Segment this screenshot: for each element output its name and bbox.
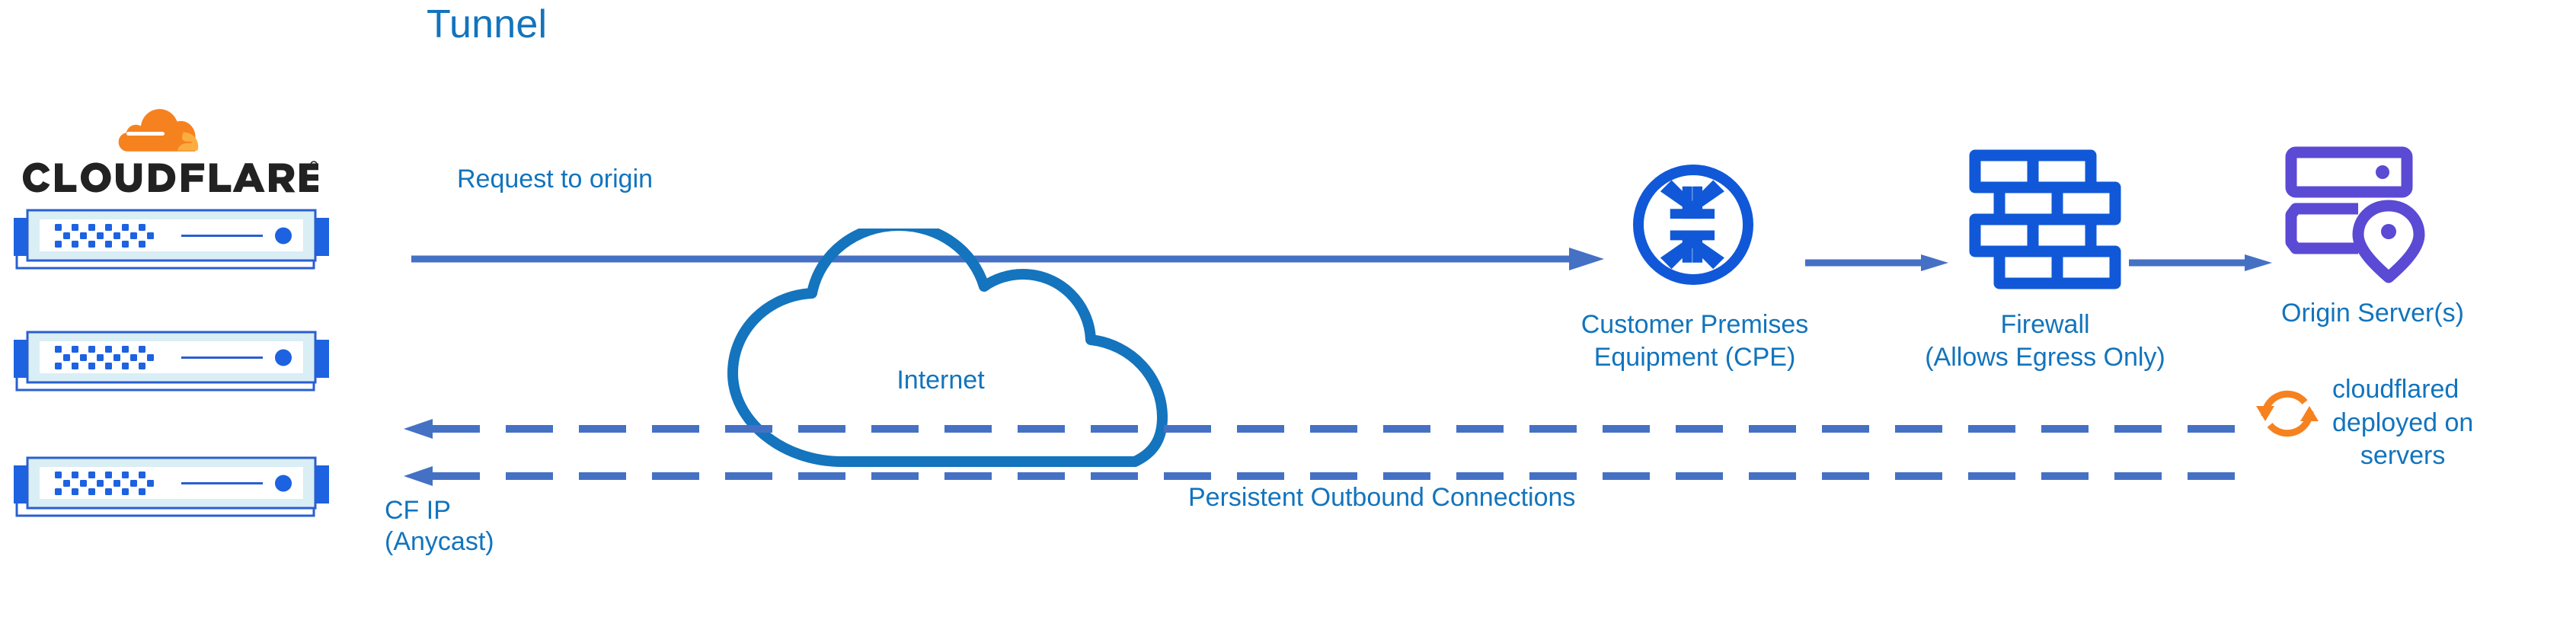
firewall-label: Firewall (Allows Egress Only) bbox=[1858, 308, 2232, 373]
cpe-label-line-1: Customer Premises bbox=[1497, 308, 1893, 341]
cloudflare-server-rack-1 bbox=[8, 207, 335, 291]
server-location-pin-icon bbox=[2285, 146, 2437, 283]
arrow-firewall-to-origin bbox=[2129, 253, 2274, 273]
origin-server-label: Origin Server(s) bbox=[2209, 299, 2536, 328]
cloudflared-label-line-1: cloudflared bbox=[2332, 373, 2473, 407]
cloudflared-label: cloudflared deployed on servers bbox=[2332, 373, 2473, 473]
cloudflare-server-rack-3 bbox=[8, 455, 335, 539]
refresh-cycle-icon bbox=[2255, 381, 2320, 446]
cf-ip-line-1: CF IP bbox=[385, 495, 494, 526]
four-arrows-circle-icon bbox=[1630, 161, 1756, 288]
arrow-cpe-to-firewall bbox=[1805, 253, 1950, 273]
cloudflare-cloud-mark-icon bbox=[94, 107, 216, 161]
tunnel-architecture-diagram: Tunnel bbox=[0, 0, 2576, 617]
internet-label: Internet bbox=[708, 366, 1173, 395]
cpe-label-line-2: Equipment (CPE) bbox=[1497, 341, 1893, 374]
cloudflare-wordmark bbox=[21, 160, 318, 195]
cloudflared-label-line-3: servers bbox=[2332, 440, 2473, 473]
cloudflare-logo bbox=[21, 107, 318, 202]
brick-wall-icon bbox=[1969, 149, 2121, 294]
page-title: Tunnel bbox=[427, 2, 547, 47]
request-to-origin-label: Request to origin bbox=[457, 165, 653, 194]
cloudflare-server-rack-2 bbox=[8, 329, 335, 413]
firewall-label-line-1: Firewall bbox=[1858, 308, 2232, 341]
firewall-label-line-2: (Allows Egress Only) bbox=[1858, 341, 2232, 374]
cpe-label: Customer Premises Equipment (CPE) bbox=[1497, 308, 1893, 373]
cf-ip-anycast-label: CF IP (Anycast) bbox=[385, 495, 494, 558]
persistent-outbound-connections-label: Persistent Outbound Connections bbox=[1188, 483, 1575, 513]
cf-ip-line-2: (Anycast) bbox=[385, 526, 494, 558]
cloudflared-label-line-2: deployed on bbox=[2332, 407, 2473, 440]
